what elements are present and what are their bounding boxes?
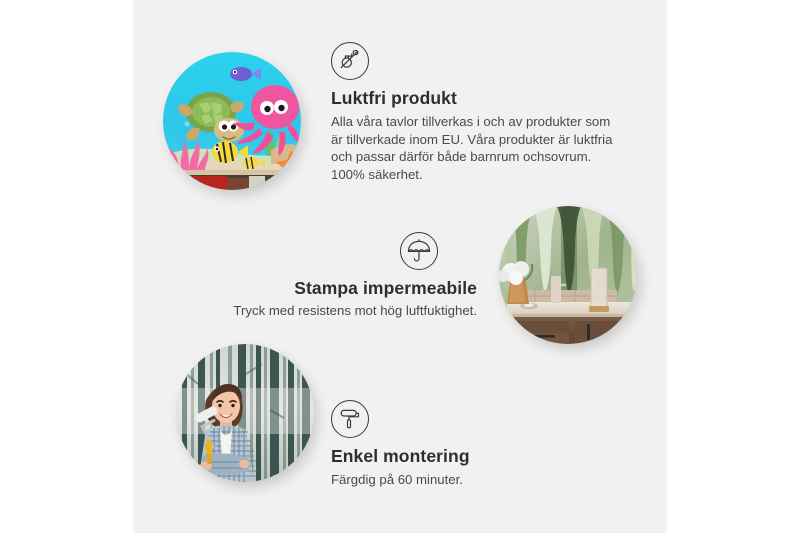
product-photo-bathroom	[499, 206, 637, 344]
feature-title: Enkel montering	[331, 446, 581, 467]
feature-title: Stampa impermeabile	[215, 278, 477, 299]
paint-roller-icon	[331, 400, 369, 438]
feature-odourless: Luktfri produkt Alla våra tavlor tillver…	[331, 42, 621, 183]
umbrella-icon	[400, 232, 438, 270]
feature-body: Tryck med resistens mot hög luftfuktighe…	[215, 302, 477, 320]
product-photo-ocean	[163, 52, 301, 190]
feature-body: Alla våra tavlor tillverkas i och av pro…	[331, 113, 621, 183]
feature-easy-install: Enkel montering Färgdig på 60 minuter.	[331, 400, 581, 489]
product-photo-painter	[176, 344, 314, 482]
feature-title: Luktfri produkt	[331, 88, 621, 109]
feature-body: Färgdig på 60 minuter.	[331, 471, 581, 489]
promo-graphic: Luktfri produkt Alla våra tavlor tillver…	[0, 0, 800, 533]
no-odour-spray-bottle-icon	[331, 42, 369, 80]
feature-waterproof: Stampa impermeabile Tryck med resistens …	[215, 232, 477, 320]
